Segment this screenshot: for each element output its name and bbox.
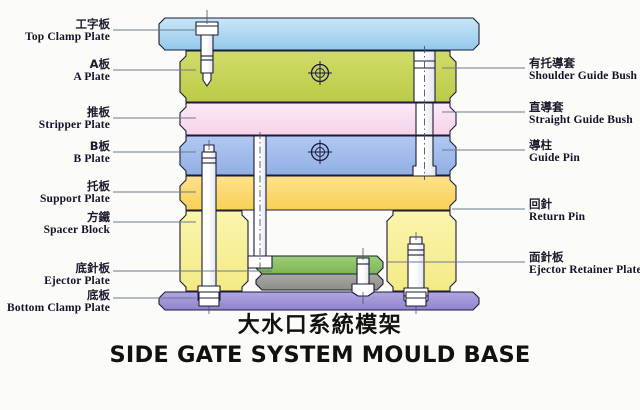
diagram-title-english: SIDE GATE SYSTEM MOULD BASE [0, 340, 640, 370]
label-b-plate: B板 B Plate [0, 140, 110, 166]
label-shoulder-guide-bush: 有托導套 Shoulder Guide Bush [529, 57, 637, 83]
guide-pin-shaft [413, 136, 436, 176]
label-stripper-plate-en: Stripper Plate [0, 119, 110, 132]
label-spacer-block-cn: 方鐵 [0, 211, 110, 224]
label-straight-guide-bush-en: Straight Guide Bush [529, 114, 633, 127]
label-a-plate-en: A Plate [0, 71, 110, 84]
label-support-plate-en: Support Plate [0, 193, 110, 206]
label-b-plate-cn: B板 [0, 140, 110, 153]
label-stripper-plate: 推板 Stripper Plate [0, 106, 110, 132]
plate-support [180, 176, 456, 210]
label-shoulder-guide-bush-en: Shoulder Guide Bush [529, 70, 637, 83]
label-guide-pin: 導柱 Guide Pin [529, 139, 580, 165]
label-support-plate: 托板 Support Plate [0, 180, 110, 206]
label-stripper-plate-cn: 推板 [0, 106, 110, 119]
bottom-clamp-screw-left [199, 292, 219, 306]
label-b-plate-en: B Plate [0, 153, 110, 166]
label-ejector-retainer-plate-cn: 面針板 [529, 251, 640, 264]
label-return-pin-en: Return Pin [529, 211, 585, 224]
label-a-plate: A板 A Plate [0, 58, 110, 84]
label-guide-pin-en: Guide Pin [529, 152, 580, 165]
bottom-clamp-screw-right [406, 292, 426, 306]
label-top-clamp-plate-en: Top Clamp Plate [0, 31, 110, 44]
label-return-pin-cn: 回針 [529, 198, 585, 211]
label-top-clamp-plate: 工字板 Top Clamp Plate [0, 18, 110, 44]
diagram-title-chinese: 大水口系統模架 [0, 312, 640, 340]
label-ejector-plate: 底針板 Ejector Plate [0, 262, 110, 288]
label-guide-pin-cn: 導柱 [529, 139, 580, 152]
label-ejector-plate-en: Ejector Plate [0, 275, 110, 288]
label-shoulder-guide-bush-cn: 有托導套 [529, 57, 637, 70]
label-spacer-block-en: Spacer Block [0, 224, 110, 237]
label-straight-guide-bush-cn: 直導套 [529, 101, 633, 114]
label-spacer-block: 方鐵 Spacer Block [0, 211, 110, 237]
diagram-title: 大水口系統模架 SIDE GATE SYSTEM MOULD BASE [0, 312, 640, 370]
diagram-canvas: 工字板 Top Clamp Plate A板 A Plate 推板 Stripp… [0, 0, 640, 410]
label-ejector-plate-cn: 底針板 [0, 262, 110, 275]
label-support-plate-cn: 托板 [0, 180, 110, 193]
label-bottom-clamp-plate-cn: 底板 [0, 289, 110, 302]
label-ejector-retainer-plate-en: Ejector Retainer Plate [529, 264, 640, 277]
label-top-clamp-plate-cn: 工字板 [0, 18, 110, 31]
label-return-pin: 回針 Return Pin [529, 198, 585, 224]
plate-stripper [180, 103, 456, 135]
label-ejector-retainer-plate: 面針板 Ejector Retainer Plate [529, 251, 640, 277]
label-a-plate-cn: A板 [0, 58, 110, 71]
label-straight-guide-bush: 直導套 Straight Guide Bush [529, 101, 633, 127]
